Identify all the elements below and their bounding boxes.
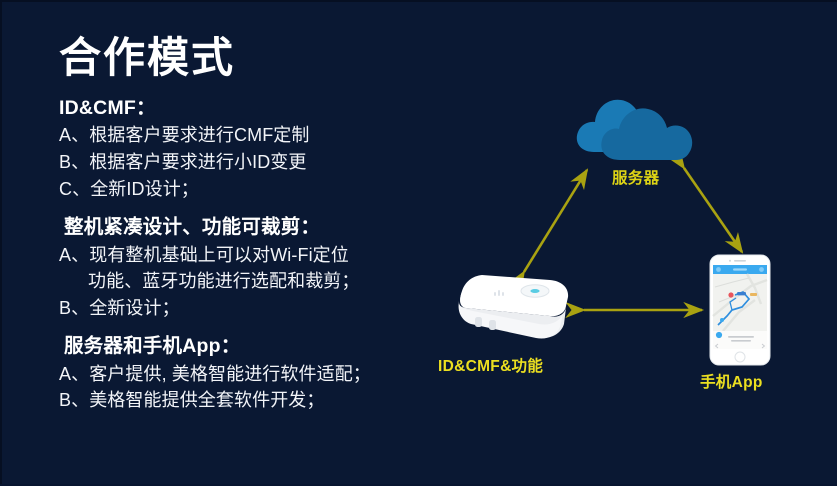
arrow-server-phone: [684, 168, 742, 252]
node-label-phone: 手机App: [700, 370, 763, 392]
gateway-device-icon: [432, 268, 582, 348]
smartphone-map-icon: [709, 254, 771, 366]
node-label-server: 服务器: [612, 166, 659, 188]
cloud-icon: [572, 82, 702, 157]
architecture-diagram: 服务器: [412, 2, 837, 486]
node-label-gateway: ID&CMF&功能: [438, 354, 543, 376]
arrow-gateway-server: [524, 170, 587, 272]
diagram-arrows: [412, 2, 837, 486]
slide-canvas: 合作模式 ID&CMF： A、根据客户要求进行CMF定制 B、根据客户要求进行小…: [0, 0, 837, 484]
